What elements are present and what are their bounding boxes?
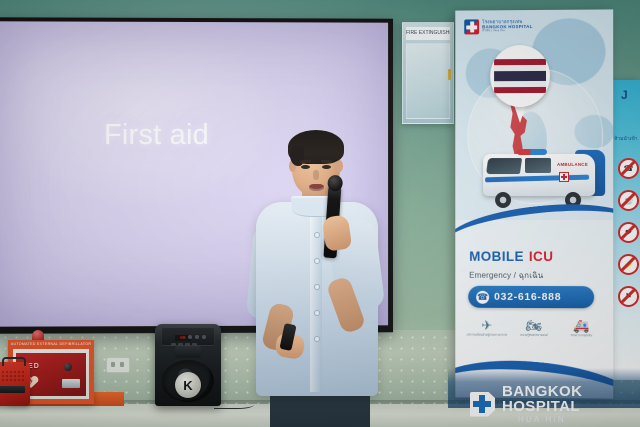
case-latch-strip [0,386,25,393]
shirt-placket [310,214,322,392]
bangkok-hospital-b-cross-icon [470,392,495,417]
case-handle [2,357,26,366]
ambulance-graphic: AMBULANCE [473,146,605,212]
service-icon-ambulance: 🚑 รถพยาบาลฉุกเฉิน [559,318,603,338]
ambulance-front-wheel [495,192,511,208]
banner-subtitle: Emergency / ฉุกเฉิน [469,269,543,282]
speaker-tweeter-horn [175,346,201,358]
no-drink-icon: ☕ [618,190,639,211]
map-pin-head [490,45,550,107]
watermark-line-1: BANGKOK [502,384,582,399]
presenter-mouth [309,184,324,191]
banner-headline: MOBILEICU [469,249,553,264]
watermark-text: BANGKOK HOSPITAL HUA HIN [502,384,582,425]
ambulance-lightbar-icon [517,149,547,155]
logo-text: โรงพยาบาลกรุงเทพ BANGKOK HOSPITAL หัวหิน… [482,20,532,32]
banner-phone-number: 032-616-888 [494,291,561,303]
shirt-button [314,336,320,342]
side-banner-thai-text: ห้ามนำเข้า [614,135,638,143]
aed-cabinet-header: AUTOMATED EXTERNAL DEFIBRILLATOR [8,340,94,348]
banner-phone-pill: ☎ 032-616-888 [468,286,594,308]
side-banner: J ห้ามนำเข้า ☎ ☕ ❤ ⚡ ⚑ [612,80,640,380]
helicopter-caption: บริการเคลื่อนย้ายผู้ป่วยทางอากาศ [465,334,509,338]
mobile-icu-banner: โรงพยาบาลกรุงเทพ BANGKOK HOSPITAL หัวหิน… [455,9,613,398]
aed-shock-button-icon [64,363,72,371]
ambulance-windshield [486,158,522,174]
speaker-knobs [188,335,206,339]
service-icon-motorcycle: 🏍 หน่วยกู้ชีพจักรยานยนต์ [512,318,556,338]
thailand-flag-icon [494,59,546,93]
motorcycle-icon: 🏍 [512,318,556,334]
ambulance-lettering: AMBULANCE [557,162,588,167]
watermark-line-3: HUA HIN [518,416,582,424]
banner-headline-icu: ICU [529,249,553,264]
speaker-brand-emblem: K [175,372,201,398]
shirt-button [314,232,320,238]
map-pin [490,45,550,127]
wall-power-outlet [106,357,130,373]
fire-extinguisher-cabinet: FIRE EXTINGUISHER [402,22,454,124]
bangkok-hospital-watermark: BANGKOK HOSPITAL HUA HIN [470,381,640,427]
side-banner-headline: J [621,88,628,102]
bangkok-hospital-logo: โรงพยาบาลกรุงเทพ BANGKOK HOSPITAL หัวหิน… [464,19,532,34]
ambulance-car-icon: 🚑 [559,318,603,334]
watermark-line-2: HOSPITAL [502,399,582,414]
pa-speaker: 88 K [155,324,221,406]
presenter-hair [288,130,344,164]
no-phone-icon: ☎ [618,158,639,179]
medical-cross-icon [464,19,479,34]
case-texture [0,370,25,382]
cabinet-label: FIRE EXTINGUISHER [406,27,450,40]
banner-headline-mobile: MOBILE [469,249,524,264]
no-smoking-icon: ⚡ [618,254,639,275]
shirt-button [314,310,320,316]
speaker-control-panel: 88 [161,328,215,346]
presenter [246,128,386,427]
presenter-right-eye [322,165,331,169]
shirt-button [314,258,320,264]
shirt-button [314,284,320,290]
cabinet-latch-icon [448,69,451,80]
ambulance-cross-icon [559,172,569,182]
presenter-left-eye [301,165,310,169]
cabinet-glass [406,43,450,119]
presenter-right-ear [336,160,343,172]
banner-service-icons: ✈ บริการเคลื่อนย้ายผู้ป่วยทางอากาศ 🏍 หน่… [463,318,605,353]
ambulance-side-window [525,158,551,173]
emergency-response-case [0,362,30,406]
logo-tagline: หัวหิน / Hua Hin [482,29,532,32]
helicopter-icon: ✈ [465,318,509,334]
presenter-nose [313,170,319,180]
aed-display-panel [62,379,80,388]
slide-title: First aid [104,119,209,152]
phone-icon: ☎ [476,290,489,303]
motorcycle-caption: หน่วยกู้ชีพจักรยานยนต์ [512,334,556,338]
no-pets-icon: ⚑ [618,286,639,307]
microphone-head [327,175,343,192]
photo-scene: First aid FIRE EXTINGUISHER J ห้ามนำเข้า… [0,0,640,427]
service-icon-helicopter: ✈ บริการเคลื่อนย้ายผู้ป่วยทางอากาศ [465,318,509,338]
ambulance-caption: รถพยาบาลฉุกเฉิน [559,334,603,338]
no-food-icon: ❤ [618,222,639,243]
